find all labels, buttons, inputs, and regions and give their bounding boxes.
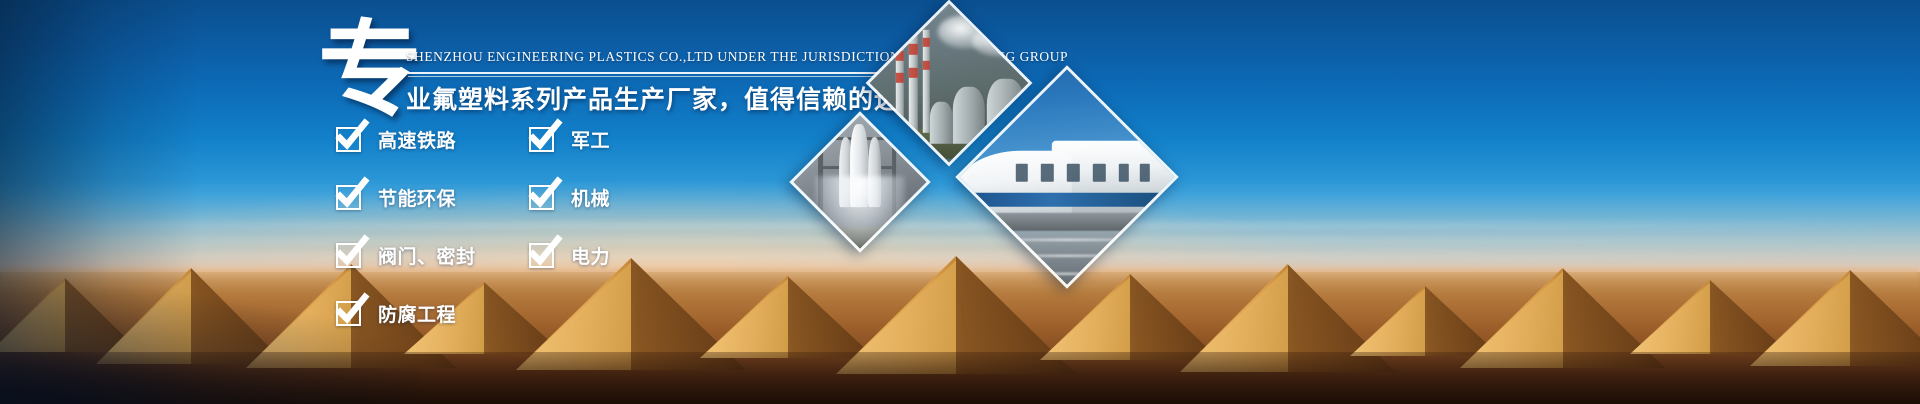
list-item-label: 军工 [571, 126, 610, 153]
rocket-launch-photo[interactable] [789, 111, 930, 252]
checkbox-checked-icon[interactable] [336, 301, 361, 326]
checkbox-checked-icon[interactable] [336, 127, 361, 152]
list-item[interactable]: 电力 [529, 236, 610, 274]
checkbox-checked-icon[interactable] [336, 243, 361, 268]
list-item[interactable]: 高速铁路 [336, 120, 476, 158]
pyramid [1630, 280, 1790, 354]
list-item-label: 阀门、密封 [378, 242, 476, 269]
list-item-label: 防腐工程 [378, 300, 456, 327]
list-item[interactable]: 阀门、密封 [336, 236, 476, 274]
list-item[interactable]: 机械 [529, 178, 610, 216]
checkbox-checked-icon[interactable] [529, 185, 554, 210]
checklist-column-left: 高速铁路 节能环保 阀门、密封 防腐工程 [336, 120, 476, 352]
list-item[interactable]: 军工 [529, 120, 610, 158]
checkbox-checked-icon[interactable] [529, 127, 554, 152]
list-item-label: 电力 [571, 242, 610, 269]
checkbox-checked-icon[interactable] [529, 243, 554, 268]
list-item[interactable]: 节能环保 [336, 178, 476, 216]
checkbox-checked-icon[interactable] [336, 185, 361, 210]
list-item-label: 机械 [571, 184, 610, 211]
hero-banner: 专 SHENZHOU ENGINEERING PLASTICS CO.,LTD … [0, 0, 1920, 404]
list-item-label: 高速铁路 [378, 126, 456, 153]
list-item-label: 节能环保 [378, 184, 456, 211]
checklist-column-right: 军工 机械 电力 [529, 120, 610, 294]
list-item[interactable]: 防腐工程 [336, 294, 476, 332]
pyramid [1350, 286, 1500, 356]
foreground-shadow [0, 352, 1920, 404]
photo-diamond-group [806, 20, 1236, 290]
pyramid [96, 268, 286, 364]
